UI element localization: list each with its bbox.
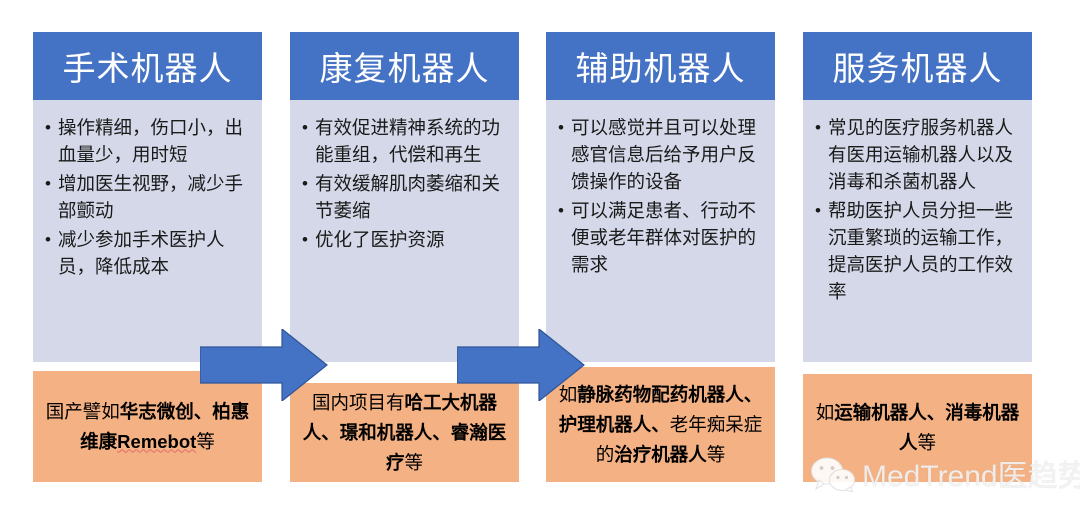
- example-text: 国内项目有哈工大机器人、璟和机器人、睿瀚医疗等: [298, 388, 511, 478]
- list-item: 可以满足患者、行动不便或老年群体对医护的需求: [556, 197, 765, 278]
- bullet-list-rehabilitation: 有效促进精神系统的功能重组，代偿和再生 有效缓解肌肉萎缩和关节萎缩 优化了医护资…: [300, 114, 509, 253]
- category-body-assistive: 可以感觉并且可以处理感官信息后给予用户反馈操作的设备 可以满足患者、行动不便或老…: [546, 100, 775, 362]
- flow-arrow-right-icon: [200, 329, 328, 401]
- diagram-canvas: 手术机器人 操作精细，伤口小，出血量少，用时短 增加医生视野，减少手部颤动 减少…: [0, 0, 1080, 521]
- list-item: 操作精细，伤口小，出血量少，用时短: [43, 114, 252, 168]
- bullet-list-assistive: 可以感觉并且可以处理感官信息后给予用户反馈操作的设备 可以满足患者、行动不便或老…: [556, 114, 765, 278]
- category-header-assistive: 辅助机器人: [546, 32, 775, 100]
- category-column-assistive: 辅助机器人 可以感觉并且可以处理感官信息后给予用户反馈操作的设备 可以满足患者、…: [546, 32, 775, 362]
- flow-arrow-right-icon: [457, 329, 585, 401]
- list-item: 帮助医护人员分担一些沉重繁琐的运输工作，提高医护人员的工作效率: [813, 197, 1022, 305]
- example-text: 如运输机器人、消毒机器人等: [811, 398, 1024, 458]
- category-header-surgical: 手术机器人: [33, 32, 262, 100]
- list-item: 常见的医疗服务机器人有医用运输机器人以及消毒和杀菌机器人: [813, 114, 1022, 195]
- category-column-surgical: 手术机器人 操作精细，伤口小，出血量少，用时短 增加医生视野，减少手部颤动 减少…: [33, 32, 262, 362]
- category-body-service: 常见的医疗服务机器人有医用运输机器人以及消毒和杀菌机器人 帮助医护人员分担一些沉…: [803, 100, 1032, 362]
- example-text: 国产譬如华志微创、柏惠维康Remebot等: [41, 397, 254, 457]
- list-item: 可以感觉并且可以处理感官信息后给予用户反馈操作的设备: [556, 114, 765, 195]
- category-header-rehabilitation: 康复机器人: [290, 32, 519, 100]
- example-box-service: 如运输机器人、消毒机器人等: [803, 374, 1032, 482]
- category-column-rehabilitation: 康复机器人 有效促进精神系统的功能重组，代偿和再生 有效缓解肌肉萎缩和关节萎缩 …: [290, 32, 519, 362]
- category-body-rehabilitation: 有效促进精神系统的功能重组，代偿和再生 有效缓解肌肉萎缩和关节萎缩 优化了医护资…: [290, 100, 519, 362]
- list-item: 优化了医护资源: [300, 226, 509, 253]
- list-item: 减少参加手术医护人员，降低成本: [43, 226, 252, 280]
- category-column-service: 服务机器人 常见的医疗服务机器人有医用运输机器人以及消毒和杀菌机器人 帮助医护人…: [803, 32, 1032, 362]
- list-item: 增加医生视野，减少手部颤动: [43, 170, 252, 224]
- bullet-list-service: 常见的医疗服务机器人有医用运输机器人以及消毒和杀菌机器人 帮助医护人员分担一些沉…: [813, 114, 1022, 305]
- category-header-service: 服务机器人: [803, 32, 1032, 100]
- list-item: 有效促进精神系统的功能重组，代偿和再生: [300, 114, 509, 168]
- bullet-list-surgical: 操作精细，伤口小，出血量少，用时短 增加医生视野，减少手部颤动 减少参加手术医护…: [43, 114, 252, 280]
- example-text: 如静脉药物配药机器人、护理机器人、老年痴呆症的治疗机器人等: [554, 380, 767, 470]
- list-item: 有效缓解肌肉萎缩和关节萎缩: [300, 170, 509, 224]
- category-body-surgical: 操作精细，伤口小，出血量少，用时短 增加医生视野，减少手部颤动 减少参加手术医护…: [33, 100, 262, 362]
